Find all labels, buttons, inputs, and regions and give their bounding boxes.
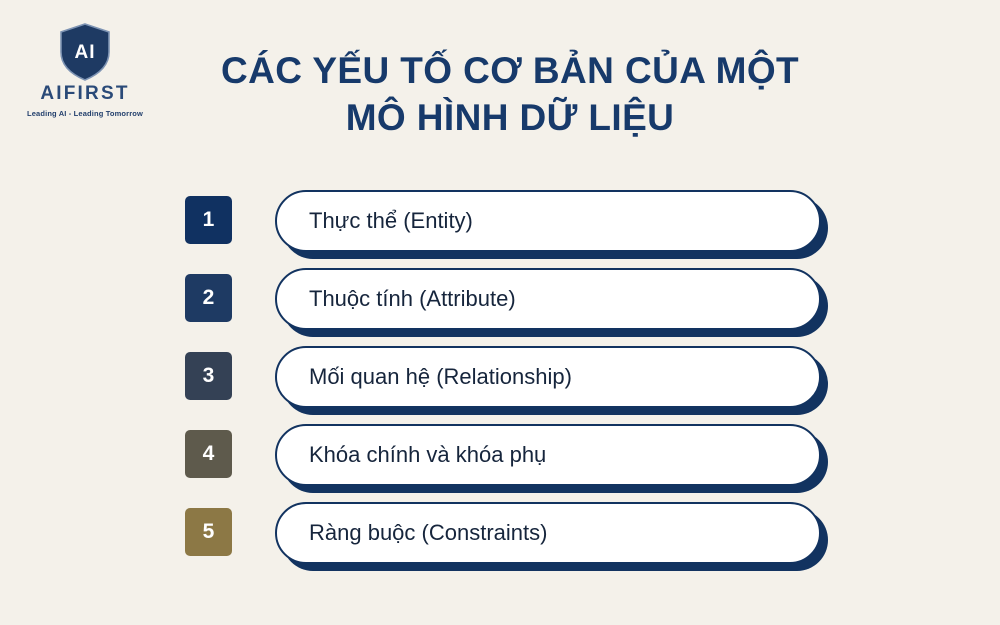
list-item-pill[interactable]: Mối quan hệ (Relationship) <box>275 346 821 408</box>
page-title-line-2: MÔ HÌNH DỮ LIỆU <box>190 95 830 142</box>
elements-list: 1 Thực thể (Entity) 2 Thuộc tính (Attrib… <box>0 186 1000 576</box>
list-item-pill[interactable]: Thuộc tính (Attribute) <box>275 268 821 330</box>
list-item-number-badge: 1 <box>185 196 232 244</box>
page-title: CÁC YẾU TỐ CƠ BẢN CỦA MỘT MÔ HÌNH DỮ LIỆ… <box>190 48 830 141</box>
list-item-number: 1 <box>203 208 215 232</box>
page-title-line-1: CÁC YẾU TỐ CƠ BẢN CỦA MỘT <box>190 48 830 95</box>
logo-tagline: Leading AI - Leading Tomorrow <box>22 110 148 118</box>
list-item-number-badge: 2 <box>185 274 232 322</box>
list-item-number: 5 <box>203 520 215 544</box>
list-item: 2 Thuộc tính (Attribute) <box>0 264 1000 342</box>
list-item-number: 3 <box>203 364 215 388</box>
list-item: 1 Thực thể (Entity) <box>0 186 1000 264</box>
list-item-label: Mối quan hệ (Relationship) <box>277 364 572 390</box>
list-item-pill[interactable]: Khóa chính và khóa phụ <box>275 424 821 486</box>
pill-body: Ràng buộc (Constraints) <box>275 502 821 564</box>
list-item: 4 Khóa chính và khóa phụ <box>0 420 1000 498</box>
list-item-number: 4 <box>203 442 215 466</box>
list-item-pill[interactable]: Ràng buộc (Constraints) <box>275 502 821 564</box>
svg-text:AI: AI <box>75 42 96 63</box>
list-item-label: Thực thể (Entity) <box>277 208 473 234</box>
list-item-number-badge: 3 <box>185 352 232 400</box>
list-item: 3 Mối quan hệ (Relationship) <box>0 342 1000 420</box>
list-item-number-badge: 5 <box>185 508 232 556</box>
list-item-label: Thuộc tính (Attribute) <box>277 286 516 312</box>
list-item-number-badge: 4 <box>185 430 232 478</box>
list-item-label: Khóa chính và khóa phụ <box>277 442 546 468</box>
list-item-label: Ràng buộc (Constraints) <box>277 520 547 546</box>
pill-body: Khóa chính và khóa phụ <box>275 424 821 486</box>
brand-logo: AI AIFIRST Leading AI - Leading Tomorrow <box>22 22 148 118</box>
list-item: 5 Ràng buộc (Constraints) <box>0 498 1000 576</box>
pill-body: Thuộc tính (Attribute) <box>275 268 821 330</box>
logo-wordmark: AIFIRST <box>22 84 148 105</box>
pill-body: Thực thể (Entity) <box>275 190 821 252</box>
shield-ai-icon: AI <box>57 22 113 82</box>
pill-body: Mối quan hệ (Relationship) <box>275 346 821 408</box>
list-item-pill[interactable]: Thực thể (Entity) <box>275 190 821 252</box>
list-item-number: 2 <box>203 286 215 310</box>
